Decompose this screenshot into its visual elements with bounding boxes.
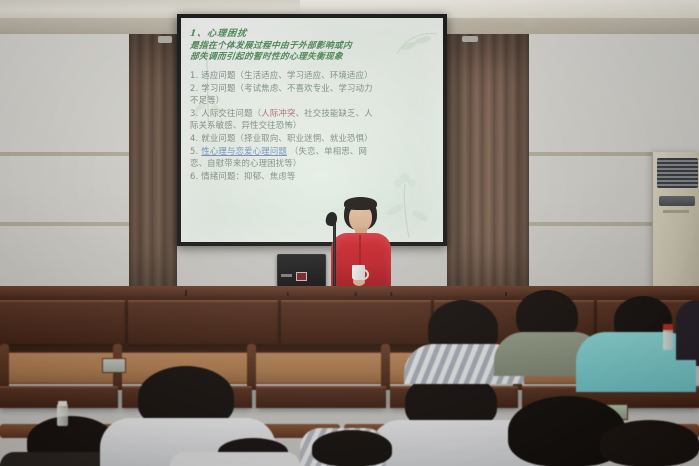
wood-slat-curtain-left (129, 34, 177, 302)
laptop-badge (296, 272, 307, 281)
wall-trim-line (0, 222, 129, 226)
slide-bullet-1: 1. 适应问题（生活适应、学习适应、环境适应） (190, 69, 436, 82)
ceiling-stain (536, 22, 596, 34)
slide-definition-line-2: 部失调而引起的暂时性的心理失衡现象 (189, 52, 436, 63)
slide-content: 1、心理困扰 是指在个体发展过程中由于外部影响或内 部失调而引起的暂时性的心理失… (181, 18, 443, 182)
seat-arm-post (247, 344, 256, 390)
water-bottle (663, 328, 673, 350)
seat-row-far[interactable] (128, 300, 278, 344)
slide-bullet-4: 4. 就业问题（择业取向、职业迷惘、就业恐惧） (190, 132, 436, 145)
desk-row[interactable] (256, 386, 386, 408)
slide-bullet-2: 2. 学习问题（考试焦虑、不喜欢专业、学习动力 (190, 82, 436, 95)
slide-definition-line-1: 是指在个体发展过程中由于外部影响或内 (189, 41, 436, 52)
seat-row-far[interactable] (281, 300, 431, 344)
audience-shoulders-white-shirt (170, 452, 300, 466)
audience-shoulders-dark (676, 300, 699, 360)
white-mug (352, 265, 365, 280)
seat-cushion[interactable] (6, 352, 116, 384)
audience-head (600, 420, 699, 466)
projection-screen: 1、心理困扰 是指在个体发展过程中由于外部影响或内 部失调而引起的暂时性的心理失… (181, 18, 443, 242)
bottle-cap (58, 401, 67, 406)
slide-bullet-2-cont: 不足等） (190, 94, 436, 107)
seat-row-far[interactable] (0, 300, 125, 344)
projection-screen-frame: 1、心理困扰 是指在个体发展过程中由于外部影响或内 部失调而引起的暂时性的心理失… (177, 14, 447, 246)
seat-arm-post (0, 344, 9, 390)
ac-grille-icon (657, 158, 698, 188)
lecture-hall-photo: 1、心理困扰 是指在个体发展过程中由于外部影响或内 部失调而引起的暂时性的心理失… (0, 0, 699, 466)
seat-arm-post (381, 344, 390, 390)
slide-bullet-3: 3. 人际交往问题（人际冲突、社交技能缺乏、人 (190, 107, 436, 120)
slide-bullet-5-hyperlink[interactable]: 性心理与恋爱心理问题 (201, 146, 287, 156)
laptop-brand-text (281, 274, 292, 277)
desk-name-plate (102, 358, 126, 373)
wall-left (0, 34, 129, 302)
slide-bullet-3-a: 3. 人际交往问题（ (190, 108, 261, 118)
black-laptop[interactable] (277, 254, 326, 288)
slide-heading: 1、心理困扰 (189, 26, 437, 39)
water-bottle (57, 404, 68, 426)
slide-bullet-3-cont: 际关系敏感、异性交往恐怖） (190, 119, 436, 132)
gooseneck-microphone-stem (333, 222, 336, 288)
slide-bullet-6: 6. 情绪问题：抑郁、焦虑等 (190, 170, 436, 183)
wall-trim-line (0, 152, 129, 156)
wood-slat-curtain-right (447, 34, 529, 302)
slide-bullet-5-c: （失恋、单相思、网 (287, 146, 367, 156)
audience-head (312, 430, 392, 466)
slide-bullet-5: 5. 性心理与恋爱心理问题 （失恋、单相思、网 (190, 145, 436, 158)
slide-bullet-5-a: 5. (190, 146, 201, 156)
ac-brand-logo (663, 210, 689, 213)
screen-mount-bracket-right (462, 36, 478, 42)
slide-bullet-3-highlight: 人际冲突 (261, 108, 295, 118)
floor-standing-air-conditioner (652, 152, 699, 306)
seat-cushion[interactable] (254, 352, 384, 384)
slide-bullet-list: 1. 适应问题（生活适应、学习适应、环境适应） 2. 学习问题（考试焦虑、不喜欢… (190, 69, 436, 182)
screen-mount-bracket-left (158, 36, 172, 43)
presenter-fringe (344, 197, 377, 210)
ac-display-panel[interactable] (659, 196, 695, 206)
slide-bullet-3-c: 、社交技能缺乏、人 (296, 108, 373, 118)
bottle-cap (663, 324, 673, 330)
slide-bullet-5-cont: 恋、自慰带来的心理困扰等） (190, 157, 436, 170)
